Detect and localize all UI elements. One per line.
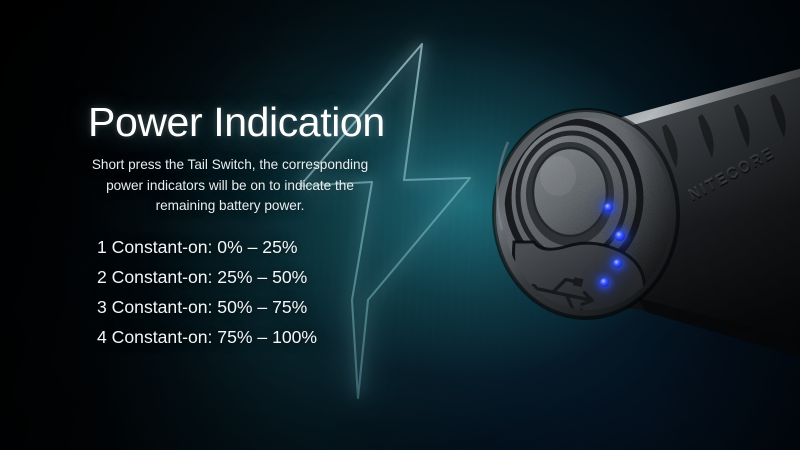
description-line-3: remaining battery power.: [62, 196, 398, 217]
list-item: 1 Constant-on: 0% – 25%: [97, 232, 317, 262]
indicator-list: 1 Constant-on: 0% – 25% 2 Constant-on: 2…: [97, 232, 317, 352]
list-item: 4 Constant-on: 75% – 100%: [97, 322, 317, 352]
description-line-1: Short press the Tail Switch, the corresp…: [62, 155, 398, 176]
page-title: Power Indication: [88, 99, 385, 146]
list-item: 2 Constant-on: 25% – 50%: [97, 262, 317, 292]
product-feature-banner: NITECORE Power Indication Short press th…: [0, 0, 800, 450]
list-item: 3 Constant-on: 50% – 75%: [97, 292, 317, 322]
description-text: Short press the Tail Switch, the corresp…: [62, 155, 398, 217]
description-line-2: power indicators will be on to indicate …: [62, 176, 398, 197]
vignette-overlay: [0, 0, 800, 450]
